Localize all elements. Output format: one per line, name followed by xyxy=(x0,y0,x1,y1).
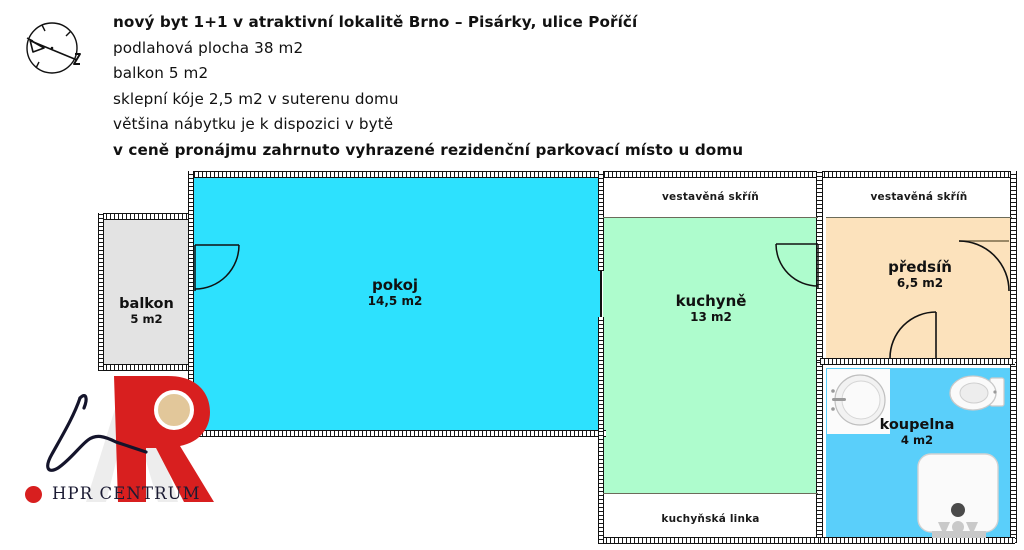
toilet-seat xyxy=(960,383,988,403)
wall-pokoj-kuchyne-upper xyxy=(598,171,604,271)
bathtub-faucet xyxy=(832,398,846,401)
door-jamb-pokoj-kuchyne xyxy=(600,271,602,317)
listing-title: nový byt 1+1 v atraktivní lokalitě Brno … xyxy=(113,10,813,36)
listing-parking: v ceně pronájmu zahrnuto vyhrazené rezid… xyxy=(113,138,813,164)
bathtub-inner xyxy=(842,381,880,419)
wall-hall-top xyxy=(820,171,1015,178)
wall-pokoj-bottom xyxy=(190,430,606,437)
room-area-pokoj: 14,5 m2 xyxy=(300,295,490,308)
wall-balkon-left xyxy=(98,213,104,371)
logo-brand-name: HPR CENTRUM xyxy=(52,484,201,503)
room-name-pokoj: pokoj xyxy=(372,276,418,294)
door-kuchyne-predsin xyxy=(766,240,822,298)
door-swing-arc xyxy=(890,312,936,358)
washing-machine-knob xyxy=(952,521,964,533)
washing-machine-body xyxy=(918,454,998,532)
wall-balkon-bottom xyxy=(98,364,194,371)
closet-line-hall xyxy=(826,217,1012,218)
room-label-predsin: předsíň 6,5 m2 xyxy=(850,259,990,290)
listing-balcony: balkon 5 m2 xyxy=(113,61,813,87)
compass-rose xyxy=(14,16,90,82)
toilet-icon xyxy=(948,372,1006,418)
washing-machine-drum xyxy=(951,503,965,517)
compass-tick xyxy=(36,62,39,68)
room-label-kuchyne: kuchyně 13 m2 xyxy=(613,293,809,324)
annotation-kitchen-units: kuchyňská linka xyxy=(603,513,818,525)
room-area-koupelna: 4 m2 xyxy=(847,434,987,447)
door-predsin-koupelna xyxy=(888,310,940,362)
listing-furniture: většina nábytku je k dispozici v bytě xyxy=(113,112,813,138)
wall-balkon-top xyxy=(98,213,194,220)
compass-center-dot xyxy=(51,47,54,50)
room-label-pokoj: pokoj 14,5 m2 xyxy=(300,277,490,308)
room-balkon xyxy=(102,219,191,366)
door-swing-arc xyxy=(195,245,239,289)
room-name-koupelna: koupelna xyxy=(880,417,955,433)
room-area-predsin: 6,5 m2 xyxy=(850,277,990,290)
wall-kuchyne-bottom xyxy=(598,537,823,544)
room-label-balkon: balkon 5 m2 xyxy=(102,296,191,326)
listing-floor-area: podlahová plocha 38 m2 xyxy=(113,36,813,62)
wall-outer-right xyxy=(1010,171,1017,543)
compass-rose-svg xyxy=(14,16,90,82)
listing-cellar: sklepní kóje 2,5 m2 v suterenu domu xyxy=(113,87,813,113)
listing-description: nový byt 1+1 v atraktivní lokalitě Brno … xyxy=(113,10,813,164)
room-name-predsin: předsíň xyxy=(888,258,952,276)
kitchen-units-line xyxy=(603,493,818,494)
wall-pokoj-kuchyne-lower xyxy=(598,317,604,437)
wall-kitchen-top xyxy=(600,171,822,178)
room-area-kuchyne: 13 m2 xyxy=(613,311,809,324)
room-label-koupelna: koupelna 4 m2 xyxy=(847,417,987,447)
compass-tick xyxy=(42,25,45,31)
wall-pokoj-top xyxy=(190,171,606,178)
room-area-balkon: 5 m2 xyxy=(102,313,191,326)
logo-bullet-dot xyxy=(25,486,42,503)
door-swing-arc xyxy=(776,244,818,286)
closet-line-kitchen xyxy=(603,217,818,218)
room-name-balkon: balkon xyxy=(119,296,174,312)
washing-machine-icon xyxy=(916,452,1000,543)
toilet-flush xyxy=(993,390,996,393)
door-balkon-pokoj xyxy=(193,243,249,301)
wall-kuchyne-left-lower xyxy=(598,430,604,544)
bathtub-tap xyxy=(831,407,835,411)
annotation-closet-kitchen: vestavěná skříň xyxy=(603,191,818,203)
room-name-kuchyne: kuchyně xyxy=(676,292,747,310)
bathtub-tap xyxy=(831,389,835,393)
compass-tick xyxy=(66,31,71,36)
annotation-closet-hall: vestavěná skříň xyxy=(826,191,1012,203)
